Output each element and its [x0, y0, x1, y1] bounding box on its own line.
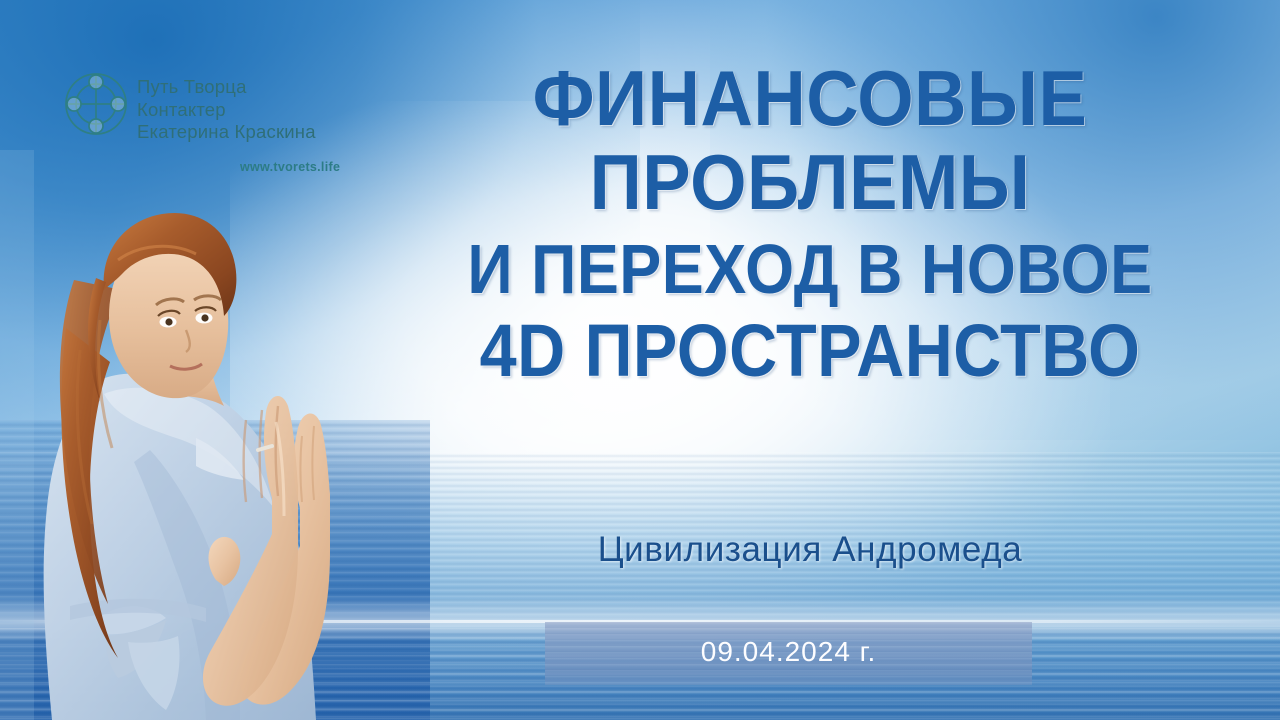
slide-title: ФИНАНСОВЫЕ ПРОБЛЕМЫ И ПЕРЕХОД В НОВОЕ 4D… [360, 60, 1260, 388]
brand-line-3: Екатерина Краскина [137, 121, 316, 144]
website-url: www.tvorets.life [240, 160, 340, 174]
circle-cross-quaternary-icon [62, 70, 130, 138]
presenter-photo [0, 150, 420, 720]
brand-name-text: Путь Творца Контактер Екатерина Краскина [137, 76, 316, 144]
date-banner: 09.04.2024 г. [545, 622, 1032, 685]
title-line-2: ПРОБЛЕМЫ [392, 144, 1229, 220]
title-line-3: И ПЕРЕХОД В НОВОЕ [405, 235, 1215, 304]
brand-line-1: Путь Творца [137, 76, 316, 99]
brand-logo-block: Путь Творца Контактер Екатерина Краскина… [62, 62, 362, 187]
title-line-4: 4D ПРОСТРАНСТВО [405, 315, 1215, 388]
slide-subtitle: Цивилизация Андромеда [360, 530, 1260, 570]
title-line-1: ФИНАНСОВЫЕ [392, 60, 1229, 136]
brand-line-2: Контактер [137, 99, 316, 122]
slide-canvas: Путь Творца Контактер Екатерина Краскина… [0, 0, 1280, 720]
date-text: 09.04.2024 г. [545, 636, 1032, 668]
